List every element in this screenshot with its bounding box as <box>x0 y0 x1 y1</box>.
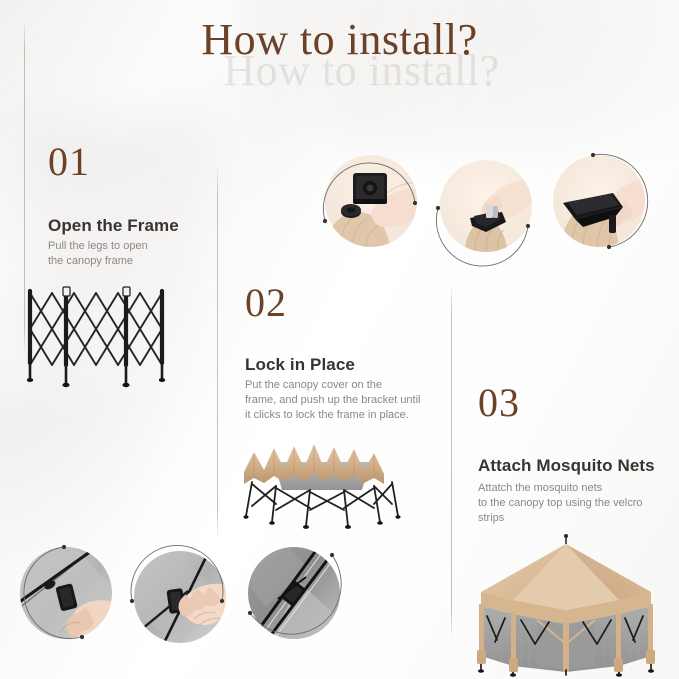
page-title-block: How to install? How to install? <box>0 18 679 62</box>
step-description-02: Put the canopy cover on the frame, and p… <box>245 378 445 423</box>
divider-step1-step2 <box>217 165 218 540</box>
step-number-01: 01 <box>48 142 90 182</box>
step-number-02: 02 <box>245 283 287 323</box>
infographic-page: How to install? How to install? 01 Open … <box>0 0 679 679</box>
photo-velcro-2-arc <box>122 541 238 657</box>
step-title-02: Lock in Place <box>245 355 355 375</box>
photo-bracket-3-arc <box>541 145 657 261</box>
page-title: How to install? <box>0 18 679 62</box>
photo-velcro-3-arc <box>236 537 352 653</box>
step-description-01: Pull the legs to open the canopy frame <box>48 239 218 269</box>
illustration-hexagonal-gazebo <box>455 532 677 677</box>
step-description-03: Attatch the mosquito nets to the canopy … <box>478 481 673 526</box>
step-number-03: 03 <box>478 383 520 423</box>
illustration-canopy-frame <box>22 283 177 388</box>
illustration-canopy-cover-on-frame <box>232 438 412 530</box>
step-title-03: Attach Mosquito Nets <box>478 456 655 476</box>
photo-velcro-1-arc <box>8 537 124 653</box>
step-title-01: Open the Frame <box>48 216 179 236</box>
divider-step2-step3 <box>451 285 452 640</box>
photo-bracket-1-arc <box>313 145 429 261</box>
canopy-cover-svg <box>232 438 412 530</box>
photo-bracket-2-arc <box>428 150 544 266</box>
canopy-frame-svg <box>22 283 177 388</box>
gazebo-svg <box>455 532 677 677</box>
